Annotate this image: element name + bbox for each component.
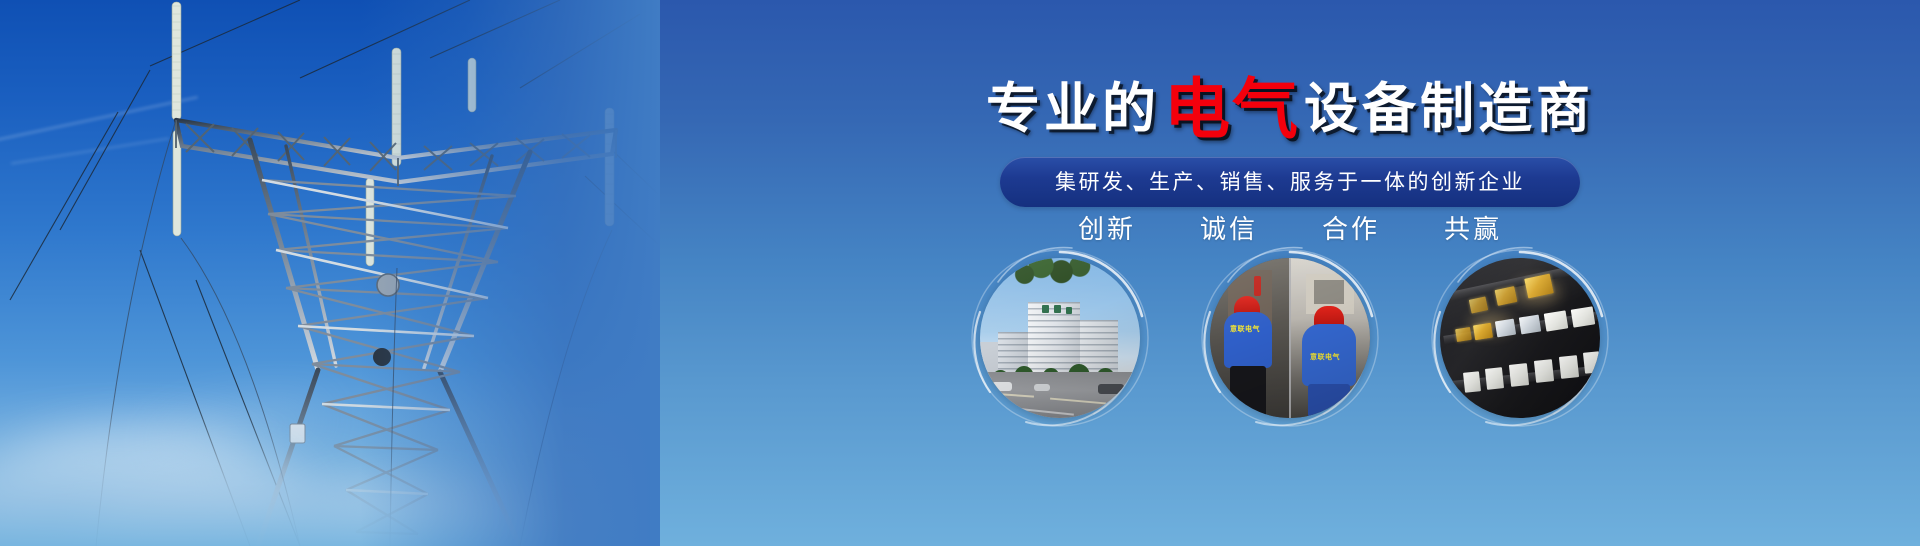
circle-photo-row: 意联电气 意联电气	[660, 258, 1920, 418]
keyword-winwin: 共赢	[1444, 209, 1502, 246]
hero-banner: 专业的电气设备制造商 集研发、生产、销售、服务于一体的创新企业 创新 诚信 合作…	[0, 0, 1920, 546]
headline-part1: 专业的	[986, 82, 1160, 136]
subtitle-pill: 集研发、生产、销售、服务于一体的创新企业	[1000, 157, 1580, 207]
keyword-cooperation: 合作	[1322, 209, 1380, 246]
keyword-innovation: 创新	[1078, 209, 1136, 246]
certificates-image	[1440, 258, 1600, 418]
transmission-tower-photo	[0, 0, 660, 546]
keyword-integrity: 诚信	[1200, 209, 1258, 246]
workers-image: 意联电气 意联电气	[1210, 258, 1370, 418]
circle-photo-workers[interactable]: 意联电气 意联电气	[1210, 258, 1370, 418]
headline-part2: 设备制造商	[1304, 82, 1594, 136]
banner-content: 专业的电气设备制造商 集研发、生产、销售、服务于一体的创新企业 创新 诚信 合作…	[660, 0, 1920, 546]
subtitle-text: 集研发、生产、销售、服务于一体的创新企业	[1040, 166, 1540, 196]
keyword-row: 创新 诚信 合作 共赢	[660, 209, 1920, 246]
circle-photo-certificates[interactable]	[1440, 258, 1600, 418]
circle-photo-building[interactable]	[980, 258, 1140, 418]
headline: 专业的电气设备制造商	[660, 76, 1920, 142]
headline-accent: 电气	[1164, 76, 1300, 142]
building-image	[980, 258, 1140, 418]
